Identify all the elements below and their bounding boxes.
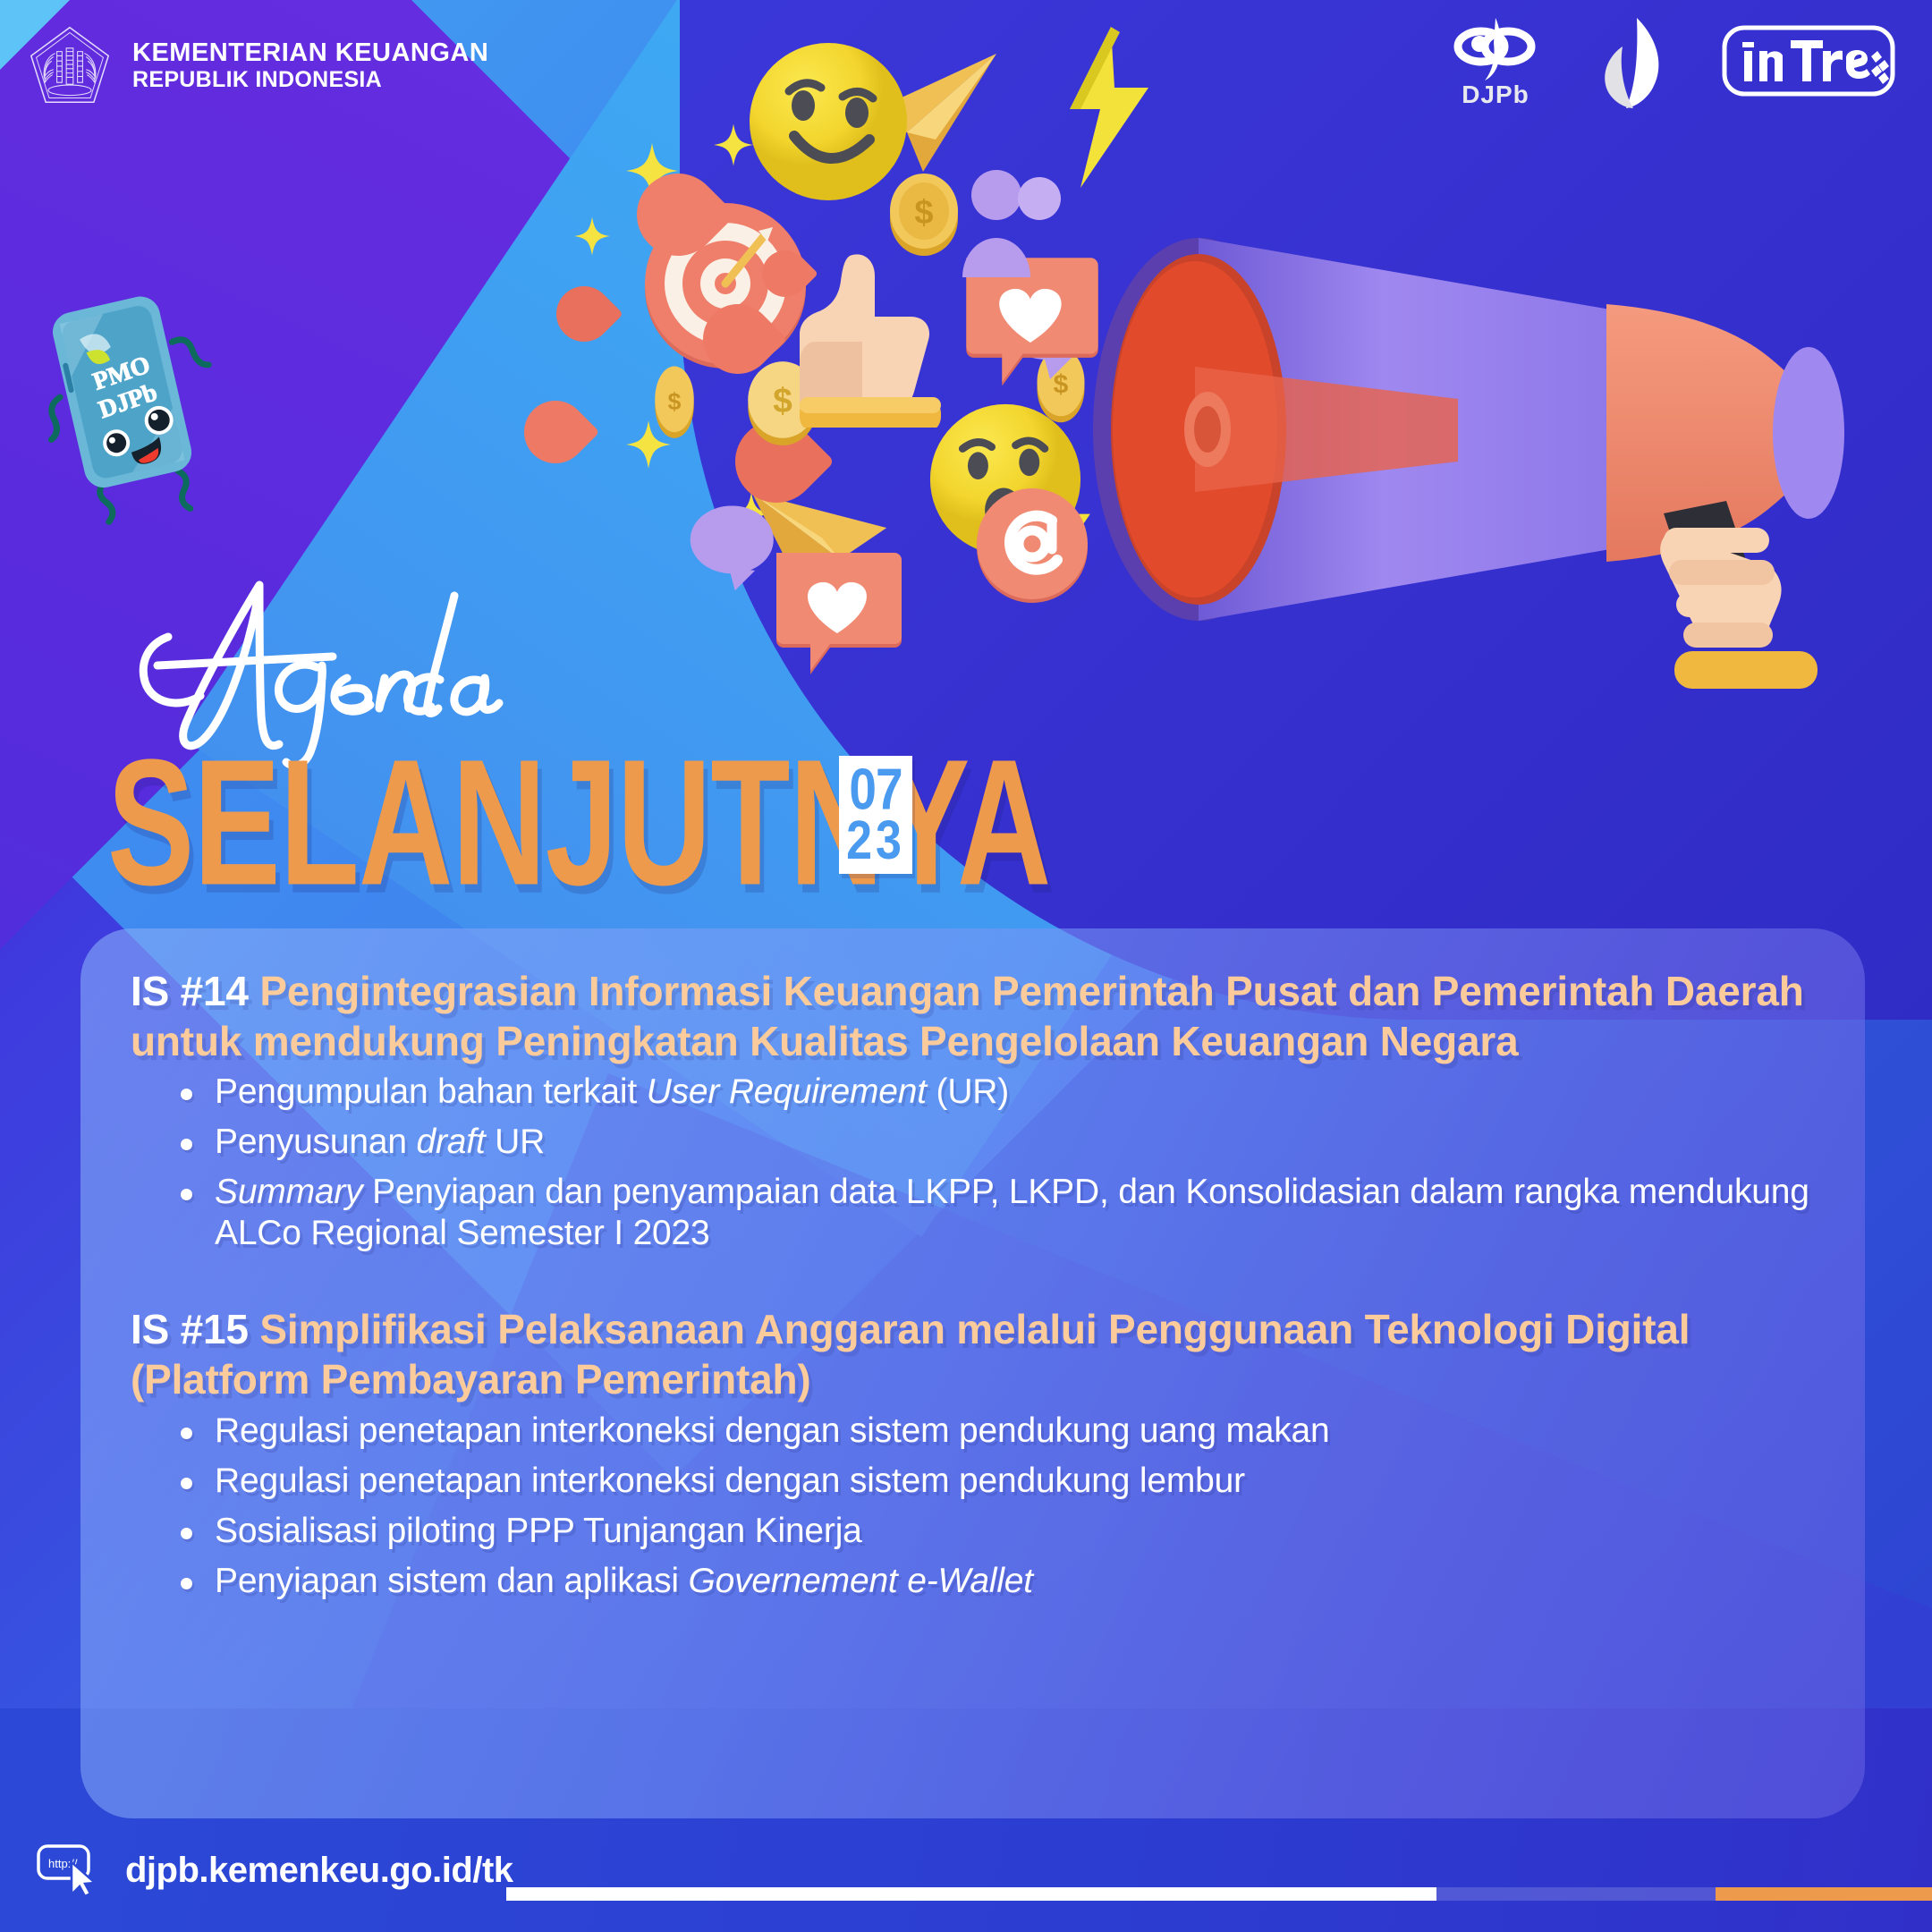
browser-url-cursor-icon: http:// [36, 1843, 102, 1898]
item-post: Penyiapan dan penyampaian data LKPP, LKP… [215, 1173, 1809, 1252]
date-month: 07 [849, 761, 902, 817]
is14-tag: IS #14 [131, 968, 249, 1014]
item-post: UR [486, 1123, 546, 1161]
megaphone-icon [1038, 170, 1932, 689]
lightning-bolt-icon [1055, 27, 1154, 188]
list-item: Summary Penyiapan dan penyampaian data L… [177, 1172, 1815, 1263]
date-year: 23 [846, 816, 905, 869]
list-item: Pengumpulan bahan terkait User Requireme… [177, 1072, 1815, 1122]
is15-heading-text: Simplifikasi Pelaksanaan Anggaran melalu… [131, 1306, 1690, 1402]
item-italic: Governement e-Wallet [688, 1562, 1032, 1600]
footer-bar-orange [1716, 1887, 1932, 1901]
is15-item-list: Regulasi penetapan interkoneksi dengan s… [177, 1411, 1815, 1611]
item-italic: User Requirement [647, 1072, 927, 1111]
item-pre: Pengumpulan bahan terkait [215, 1072, 647, 1111]
dollar-coin-icon: $ [642, 361, 707, 440]
item-italic: draft [416, 1123, 485, 1161]
item-pre: Penyusunan [215, 1123, 416, 1161]
list-item: Sosialisasi piloting PPP Tunjangan Kiner… [177, 1511, 1815, 1561]
is14-item-list: Pengumpulan bahan terkait User Requireme… [177, 1072, 1815, 1263]
garuda-crest-icon [27, 22, 113, 108]
is15-heading: IS #15 Simplifikasi Pelaksanaan Anggaran… [131, 1304, 1815, 1404]
list-item: Regulasi penetapan interkoneksi dengan s… [177, 1411, 1815, 1461]
section-gap [131, 1263, 1815, 1304]
item-pre: Penyiapan sistem dan aplikasi [215, 1562, 688, 1600]
is15-tag: IS #15 [131, 1306, 249, 1352]
footer-bar-white [506, 1887, 1436, 1901]
ministry-name-line1: KEMENTERIAN KEUANGAN [132, 38, 488, 67]
footer-url-block[interactable]: http:// djpb.kemenkeu.go.id/tk [36, 1843, 513, 1898]
svg-text:$: $ [914, 194, 933, 232]
list-item: Penyiapan sistem dan aplikasi Governemen… [177, 1561, 1815, 1611]
poster-canvas: KEMENTERIAN KEUANGAN REPUBLIK INDONESIA … [0, 0, 1932, 1932]
thumbs-up-icon [780, 249, 950, 432]
is14-heading-text: Pengintegrasian Informasi Keuangan Pemer… [131, 968, 1804, 1064]
svg-text:$: $ [668, 388, 682, 415]
footer: http:// djpb.kemenkeu.go.id/tk [0, 1818, 1932, 1932]
footer-bar-dim [1436, 1887, 1716, 1901]
item-post: (UR) [927, 1072, 1009, 1111]
smiling-face-emoji [748, 41, 909, 202]
list-item: Regulasi penetapan interkoneksi dengan s… [177, 1461, 1815, 1511]
is14-heading: IS #14 Pengintegrasian Informasi Keuanga… [131, 966, 1815, 1066]
ministry-branding: KEMENTERIAN KEUANGAN REPUBLIK INDONESIA [27, 22, 488, 108]
dollar-coin-icon: $ [885, 168, 962, 258]
date-badge: 07 23 [839, 756, 912, 874]
item-italic: Summary [215, 1173, 362, 1211]
item-pre: Regulasi penetapan interkoneksi dengan s… [215, 1462, 1245, 1500]
item-pre: Regulasi penetapan interkoneksi dengan s… [215, 1411, 1330, 1450]
list-item: Penyusunan draft UR [177, 1122, 1815, 1172]
pmo-djpb-mascot: PMO DJPb [43, 267, 222, 535]
ministry-name-line2: REPUBLIK INDONESIA [132, 67, 488, 92]
heart-icon [545, 275, 623, 353]
footer-url-text[interactable]: djpb.kemenkeu.go.id/tk [125, 1851, 513, 1891]
sparkle-icon [574, 216, 610, 256]
agenda-content-panel: IS #14 Pengintegrasian Informasi Keuanga… [80, 928, 1865, 1818]
item-pre: Sosialisasi piloting PPP Tunjangan Kiner… [215, 1512, 862, 1550]
